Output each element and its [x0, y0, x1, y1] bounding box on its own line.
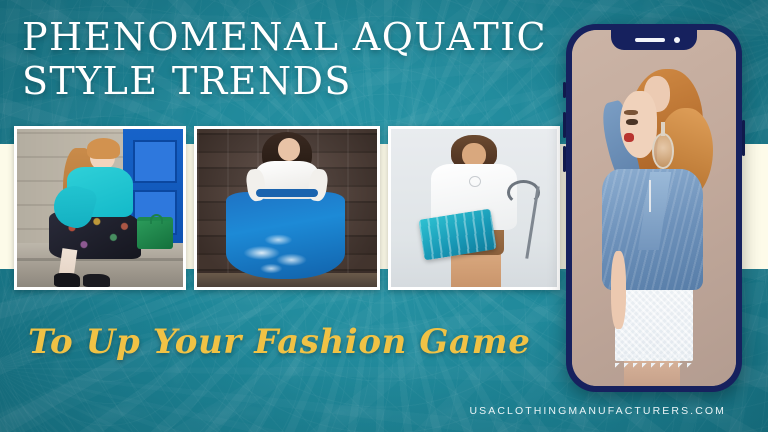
page-title: Phenomenal Aquatic Style Trends — [22, 16, 562, 103]
phone-model-lower-arm — [611, 251, 626, 329]
phone-model-earring — [652, 133, 673, 169]
phone-mockup — [566, 24, 742, 392]
phone-screen — [572, 30, 736, 386]
fashion-photo-3 — [388, 126, 560, 290]
photo-2-face — [278, 138, 300, 160]
photo-2-waistband — [256, 189, 317, 197]
phone-power-button[interactable] — [742, 120, 745, 156]
phone-model-lace-hem — [615, 354, 694, 368]
photo-3-content — [391, 129, 557, 287]
headline-line-2: Style Trends — [22, 60, 562, 104]
photo-1-green-handbag — [137, 217, 174, 249]
phone-model-lips — [624, 133, 634, 142]
photo-strip — [0, 126, 576, 290]
phone-model-necklace — [649, 180, 651, 212]
phone-volume-up-button[interactable] — [563, 112, 566, 138]
fashion-photo-2 — [194, 126, 380, 290]
phone-model-eyebrow — [624, 110, 637, 115]
photo-3-legs — [451, 252, 501, 287]
phone-model-eye — [626, 119, 637, 125]
phone-volume-down-button[interactable] — [563, 146, 566, 172]
phone-mute-button[interactable] — [563, 82, 566, 98]
photo-1-boot-right — [83, 274, 110, 287]
headline-line-1: Phenomenal Aquatic — [22, 15, 547, 59]
banner-canvas: Phenomenal Aquatic Style Trends — [0, 0, 768, 432]
photo-2-content — [197, 129, 377, 287]
phone-notch — [611, 30, 697, 50]
photo-1-hair-top — [87, 138, 120, 159]
phone-speaker-icon — [635, 38, 665, 42]
subtitle-script: To Up Your Fashion Game — [28, 325, 558, 361]
phone-camera-icon — [674, 37, 680, 43]
footer-url: USACLOTHINGMANUFACTURERS.COM — [0, 405, 754, 417]
photo-1-content — [17, 129, 183, 287]
photo-2-blue-maxi-skirt — [226, 192, 345, 279]
fashion-photo-1 — [14, 126, 186, 290]
photo-1-boot-left — [54, 273, 81, 287]
